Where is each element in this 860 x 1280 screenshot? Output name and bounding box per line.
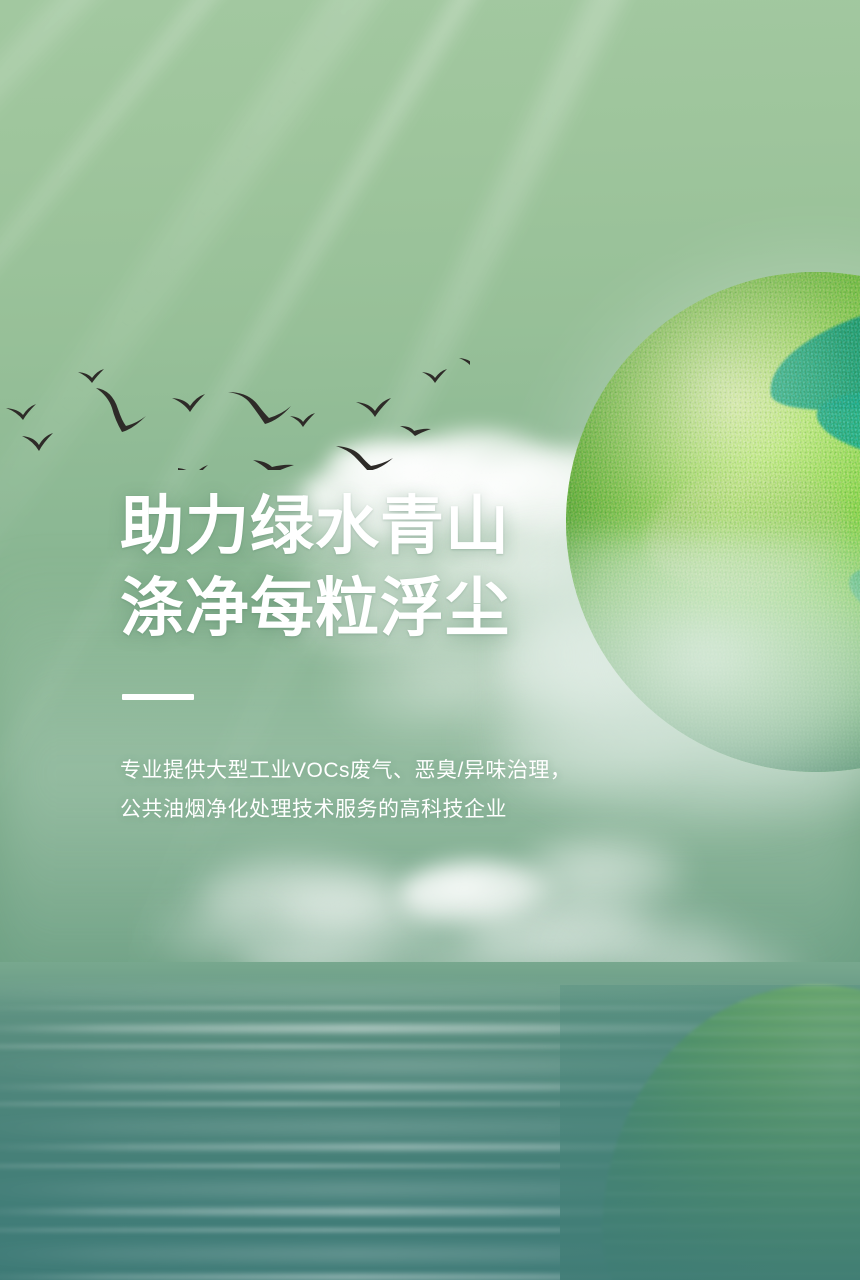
subtitle-line-1: 专业提供大型工业VOCs废气、恶臭/异味治理，	[120, 752, 680, 791]
page-title: 助力绿水青山 涤净每粒浮尘	[120, 486, 680, 650]
headline-line-1: 助力绿水青山	[120, 486, 680, 568]
hero-copy: 助力绿水青山 涤净每粒浮尘 专业提供大型工业VOCs废气、恶臭/异味治理， 公共…	[120, 486, 680, 830]
subtitle: 专业提供大型工业VOCs废气、恶臭/异味治理， 公共油烟净化处理技术服务的高科技…	[120, 752, 680, 830]
birds-flock	[0, 330, 470, 470]
globe-reflection	[602, 985, 860, 1280]
bird-icon-group	[6, 355, 470, 470]
subtitle-line-2: 公共油烟净化处理技术服务的高科技企业	[120, 791, 680, 830]
title-divider	[122, 694, 194, 700]
headline-line-2: 涤净每粒浮尘	[120, 568, 680, 650]
hero-banner: 助力绿水青山 涤净每粒浮尘 专业提供大型工业VOCs废气、恶臭/异味治理， 公共…	[0, 0, 860, 1280]
